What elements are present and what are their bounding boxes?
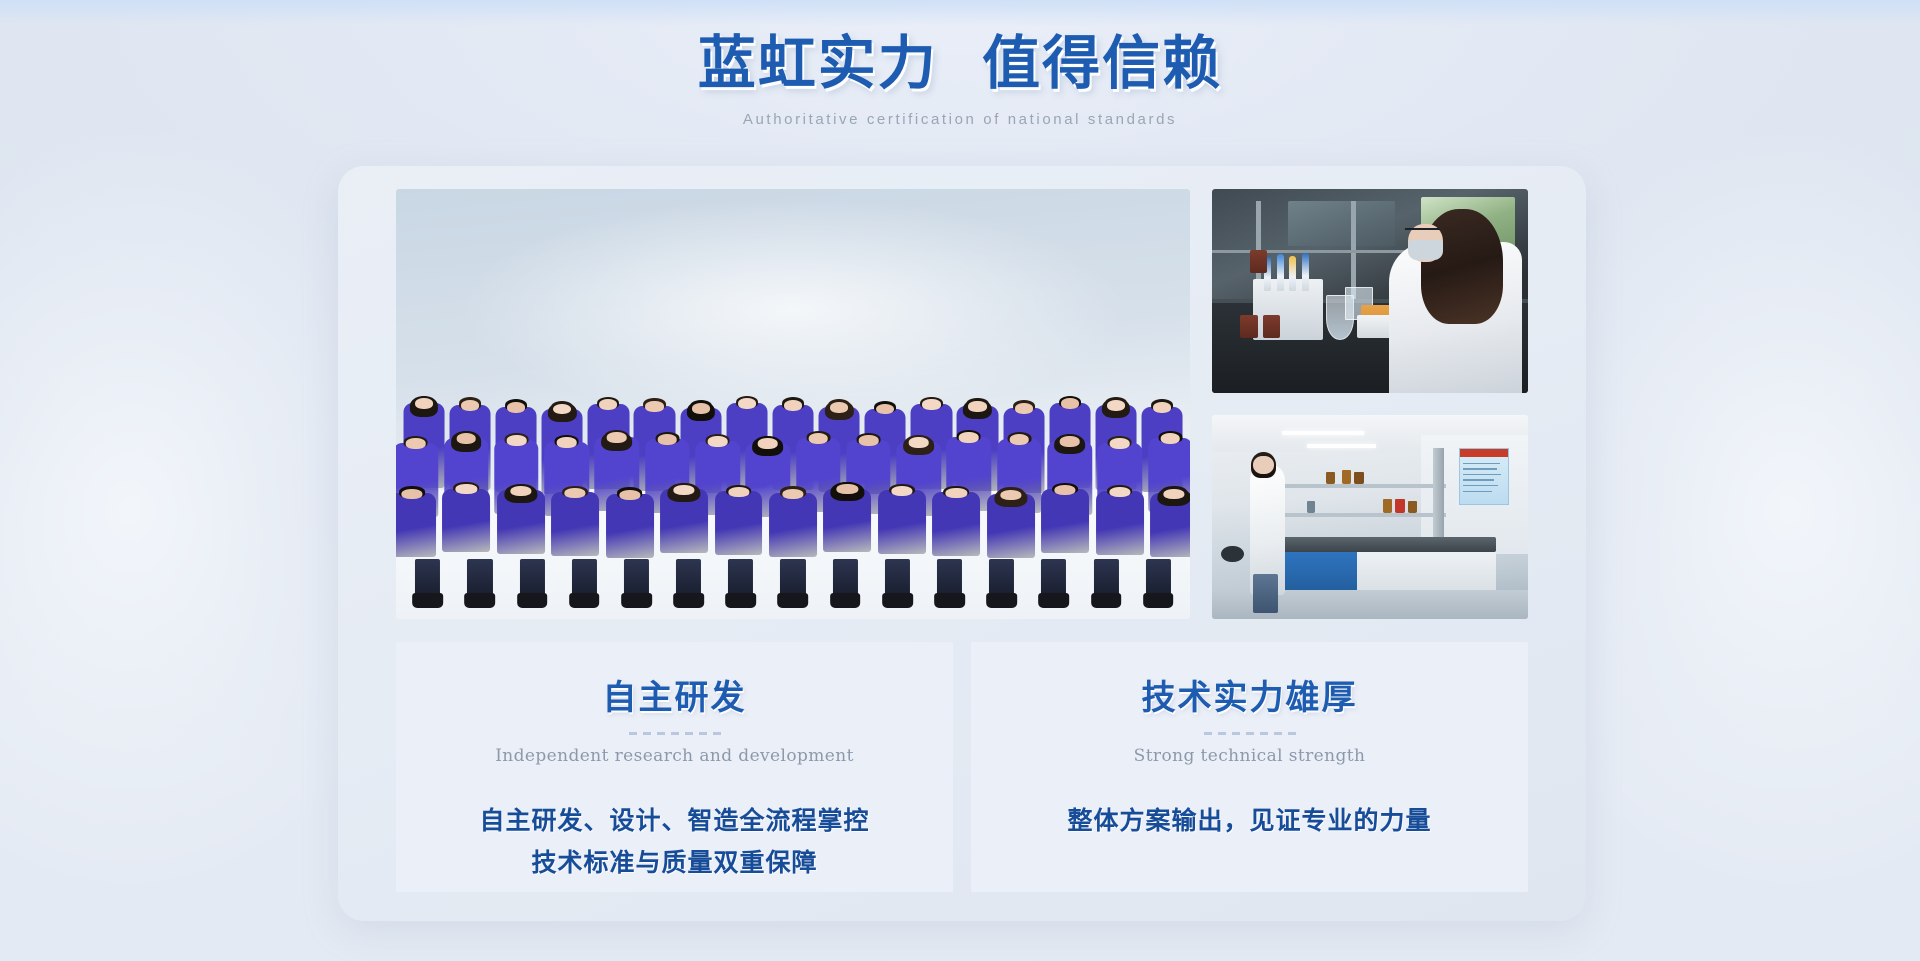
shelf-bottle-4 [1383, 499, 1392, 513]
company-group-photo [396, 189, 1190, 619]
researcher-face [1253, 456, 1274, 474]
technician-face-mask [1408, 240, 1443, 260]
page-header: 蓝虹实力 值得信赖 Authoritative certification of… [0, 30, 1920, 128]
page-subtitle: Authoritative certification of national … [0, 111, 1920, 128]
reagent-bottle-1 [1240, 315, 1257, 337]
shelf-bottle-5 [1395, 499, 1404, 513]
card-english-subtitle: Independent research and development [495, 746, 854, 766]
media-gallery [396, 189, 1528, 619]
shelf-bottle-3 [1354, 472, 1363, 484]
group-photo-person-legs [776, 559, 811, 615]
page-title: 蓝虹实力 值得信赖 [0, 30, 1920, 97]
card-divider-dashes [1204, 732, 1296, 735]
card-description-line: 整体方案输出，见证专业的力量 [1067, 800, 1431, 842]
reagent-bottle-3 [1250, 250, 1267, 272]
card-description: 自主研发、设计、智造全流程掌控 技术标准与质量双重保障 [479, 800, 869, 884]
poster-line-1 [1463, 463, 1500, 465]
poster-line-4 [1463, 479, 1494, 481]
poster-line-3 [1463, 474, 1501, 476]
poster-line-5 [1463, 485, 1498, 487]
ceiling-light-2 [1307, 444, 1377, 448]
group-photo-person-legs [723, 559, 758, 615]
ceiling-light-1 [1282, 431, 1364, 435]
group-photo-person-legs [932, 559, 967, 615]
page-top-tint [0, 0, 1920, 26]
fume-hood-column [1433, 448, 1444, 550]
group-photo-person-legs [567, 559, 602, 615]
content-panel: 自主研发 Independent research and developmen… [338, 166, 1586, 921]
pipette-4 [1302, 253, 1309, 291]
shelf-bottle-2 [1342, 470, 1351, 484]
group-photo-person-legs [880, 559, 915, 615]
safety-notice-poster [1459, 448, 1510, 505]
researcher-jeans [1253, 574, 1278, 613]
card-title: 技术实力雄厚 [1142, 670, 1358, 719]
side-photo-column [1212, 189, 1528, 619]
group-photo-person-legs [462, 559, 497, 615]
feature-card-technical-strength[interactable]: 技术实力雄厚 Strong technical strength 整体方案输出，… [971, 642, 1528, 892]
safety-glasses-icon [1405, 228, 1440, 236]
group-photo-person-legs [619, 559, 654, 615]
group-photo-person-legs [671, 559, 706, 615]
group-photo-person-legs [1089, 559, 1124, 615]
group-photo-person-legs [515, 559, 550, 615]
poster-line-6 [1463, 491, 1491, 493]
shelf-bottle-6 [1408, 501, 1417, 513]
card-divider-dashes [629, 732, 721, 735]
lab-technician-photo [1212, 189, 1528, 393]
lab-island-bench [1263, 537, 1497, 551]
shelf-bottle-1 [1326, 472, 1335, 484]
reagent-shelf-upper [1263, 484, 1446, 488]
pipette-3 [1289, 256, 1296, 291]
card-description-line: 自主研发、设计、智造全流程掌控 [479, 800, 869, 842]
lab-stool [1221, 546, 1243, 562]
reagent-shelf-lower [1263, 513, 1446, 517]
card-description-line: 技术标准与质量双重保障 [479, 842, 869, 884]
feature-card-list: 自主研发 Independent research and developmen… [396, 642, 1528, 892]
lab-interior-window [1288, 201, 1395, 246]
pipette-2 [1277, 254, 1284, 291]
laboratory-room-photo [1212, 415, 1528, 619]
group-photo-person-legs [1036, 559, 1071, 615]
card-title: 自主研发 [603, 670, 747, 719]
group-photo-person-legs [410, 559, 445, 615]
reagent-bottle-2 [1263, 315, 1280, 337]
feature-card-independent-rd[interactable]: 自主研发 Independent research and developmen… [396, 642, 953, 892]
card-description: 整体方案输出，见证专业的力量 [1067, 800, 1431, 842]
poster-header-bar [1460, 449, 1509, 458]
group-photo-person-legs [1141, 559, 1176, 615]
group-photo-person-legs [984, 559, 1019, 615]
shelf-bottle-7 [1307, 501, 1315, 513]
card-english-subtitle: Strong technical strength [1134, 746, 1366, 766]
group-photo-person-legs [828, 559, 863, 615]
photo-backlight [460, 198, 1127, 422]
poster-line-2 [1463, 468, 1497, 470]
